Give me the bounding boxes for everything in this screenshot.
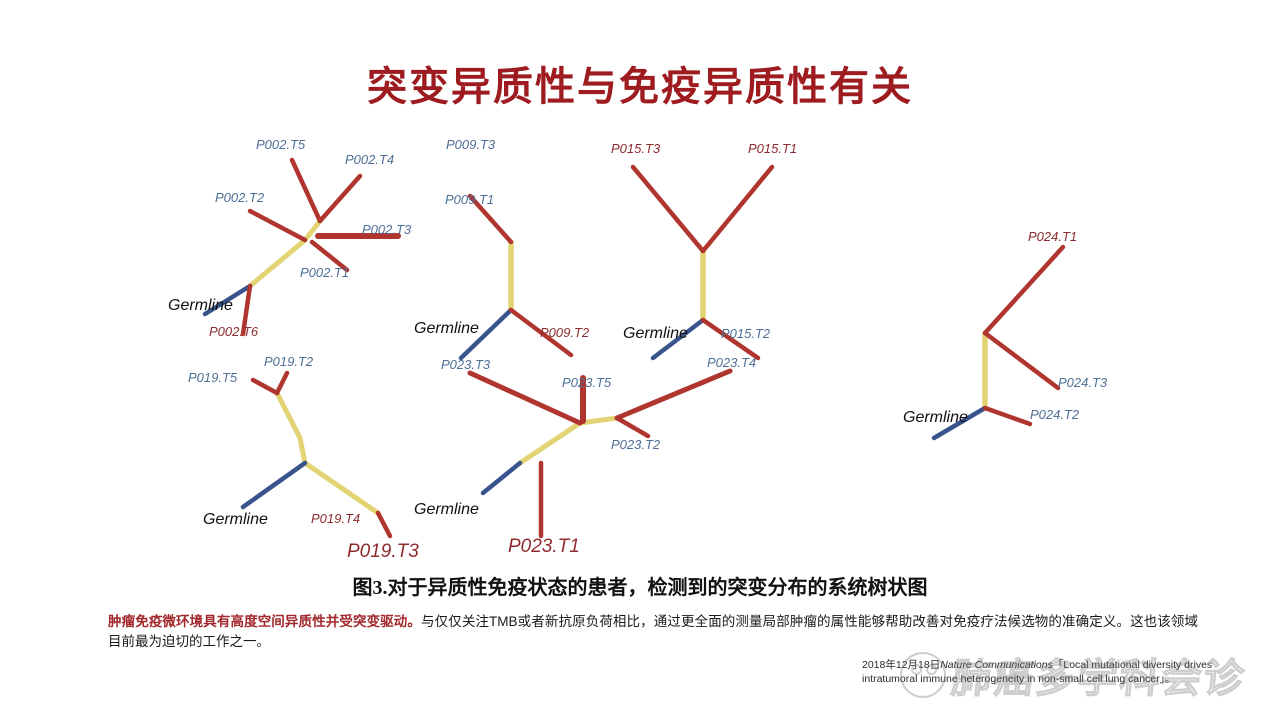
tip-label-p002-t6: P002.T6 [209, 325, 258, 338]
tip-label-p019-t4: P019.T4 [311, 512, 360, 525]
tip-label-p002-t3: P002.T3 [362, 223, 411, 236]
page-title: 突变异质性与免疫异质性有关 [0, 54, 1280, 112]
tip-label-germline: Germline [623, 326, 688, 342]
citation-article-start: 「Local mutational diversity drives [1053, 659, 1212, 671]
phylogenetic-tree-figure: P002.T5P002.T4P002.T2P002.T3P002.T1Germl… [0, 118, 1280, 568]
figure-caption: 图3.对于异质性免疫状态的患者，检测到的突变分布的系统树状图 [0, 571, 1280, 600]
tip-label-p019-t5: P019.T5 [188, 371, 237, 384]
tip-label-p019-t3: P019.T3 [347, 542, 419, 561]
tip-label-germline: Germline [168, 298, 233, 314]
tree-p002-branches [205, 160, 398, 334]
tip-label-p002-t1: P002.T1 [300, 266, 349, 279]
tree-p023-branches [470, 371, 730, 536]
tip-label-p023-t5: P023.T5 [562, 376, 611, 389]
tip-label-p002-t5: P002.T5 [256, 138, 305, 151]
tip-label-p024-t2: P024.T2 [1030, 408, 1079, 421]
tip-label-germline: Germline [414, 321, 479, 337]
citation-date: 2018年12月18日 [862, 659, 940, 671]
tip-label-germline: Germline [414, 502, 479, 518]
tip-label-p024-t3: P024.T3 [1058, 376, 1107, 389]
body-paragraph: 肿瘤免疫微环境具有高度空间异质性并受突变驱动。与仅仅关注TMB或者新抗原负荷相比… [108, 612, 1198, 652]
body-highlight: 肿瘤免疫微环境具有高度空间异质性并受突变驱动。 [108, 614, 421, 629]
source-citation: 2018年12月18日Nature Communications「Local m… [862, 658, 1272, 686]
citation-journal: Nature Communications [940, 659, 1053, 671]
slide-root: 突变异质性与免疫异质性有关 [0, 0, 1280, 720]
tip-label-p023-t3: P023.T3 [441, 358, 490, 371]
tip-label-germline: Germline [203, 512, 268, 528]
citation-article-end: intratumoral immune heterogeneity in non… [862, 673, 1175, 685]
tip-label-p002-t4: P002.T4 [345, 153, 394, 166]
tip-label-p015-t1: P015.T1 [748, 142, 797, 155]
tip-label-p015-t3: P015.T3 [611, 142, 660, 155]
tree-branches-svg [0, 118, 1280, 568]
tip-label-germline: Germline [903, 410, 968, 426]
tip-label-p009-t3: P009.T3 [446, 138, 495, 151]
tip-label-p024-t1: P024.T1 [1028, 230, 1077, 243]
tip-label-p019-t2: P019.T2 [264, 355, 313, 368]
tip-label-p009-t2: P009.T2 [540, 326, 589, 339]
tip-label-p023-t2: P023.T2 [611, 438, 660, 451]
tip-label-p015-t2: P015.T2 [721, 327, 770, 340]
tip-label-p009-t1: P009.T1 [445, 193, 494, 206]
tip-label-p023-t4: P023.T4 [707, 356, 756, 369]
tip-label-p002-t2: P002.T2 [215, 191, 264, 204]
tip-label-p023-t1: P023.T1 [508, 537, 580, 556]
